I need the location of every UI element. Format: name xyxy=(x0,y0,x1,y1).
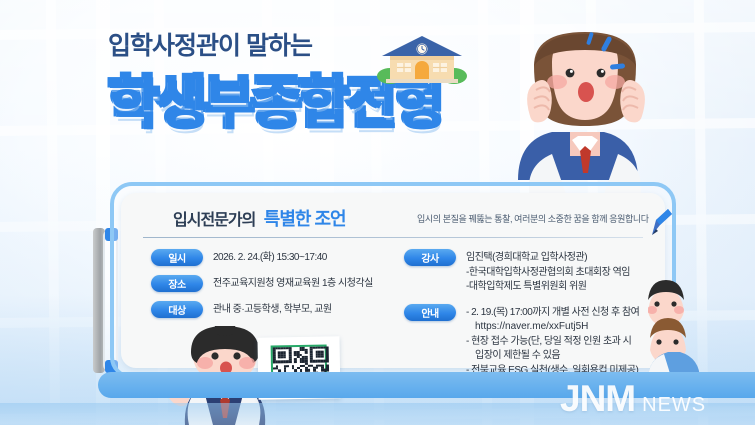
watermark: JNM NEWS xyxy=(560,378,706,420)
info-value: 2026. 2. 24.(화) 15:30~17:40 xyxy=(213,249,327,266)
poster-canvas: 입학사정관이 말하는 학생부종합전형 xyxy=(0,0,755,425)
girl-figure xyxy=(500,20,685,200)
info-row-일시: 일시2026. 2. 24.(화) 15:30~17:40 xyxy=(151,249,409,266)
watermark-suffix: NEWS xyxy=(642,394,706,417)
card-left-column: 일시2026. 2. 24.(화) 15:30~17:40장소전주교육지원청 영… xyxy=(151,249,409,327)
info-value-line: - 현장 접수 가능(단, 당일 적정 인원 초과 시 xyxy=(466,335,639,350)
cluster-figures xyxy=(648,272,750,380)
info-value-line: 2026. 2. 24.(화) 15:30~17:40 xyxy=(213,251,327,266)
info-value-line: -대학입학제도 특별위원회 위원 xyxy=(466,280,630,295)
card-title-plain: 입시전문가의 xyxy=(173,212,255,229)
card-header: 입시전문가의 특별한 조언 입시의 본질을 꿰뚫는 통찰, 여러분의 소중한 꿈… xyxy=(173,205,645,231)
card-title-accent: 특별한 조언 xyxy=(264,209,346,229)
school-building-icon xyxy=(374,30,470,84)
student-group-illustration xyxy=(648,272,750,380)
info-value-line: 전주교육지원청 영재교육원 1층 시청각실 xyxy=(213,277,373,292)
info-value-line: 관내 중·고등학생, 학부모, 교원 xyxy=(213,303,332,318)
card-tagline: 입시의 본질을 꿰뚫는 통찰, 여러분의 소중한 꿈을 함께 응원합니다 xyxy=(417,212,649,225)
info-label-pill: 일시 xyxy=(151,249,203,266)
info-label-pill: 대상 xyxy=(151,301,203,318)
info-value-line: 임진택(경희대학교 입학사정관) xyxy=(466,251,630,266)
watermark-brand: JNM xyxy=(560,378,635,420)
info-label-pill: 안내 xyxy=(404,304,456,321)
info-value: 임진택(경희대학교 입학사정관)-한국대학입학사정관협의회 초대회장 역임-대학… xyxy=(466,249,630,295)
info-label-pill: 강사 xyxy=(404,249,456,266)
info-row-안내: 안내- 2. 19.(목) 17:00까지 개별 사전 신청 후 참여https… xyxy=(404,304,674,379)
info-row-강사: 강사임진택(경희대학교 입학사정관)-한국대학입학사정관협의회 초대회장 역임-… xyxy=(404,249,674,295)
info-value: 전주교육지원청 영재교육원 1층 시청각실 xyxy=(213,275,373,292)
info-row-장소: 장소전주교육지원청 영재교육원 1층 시청각실 xyxy=(151,275,409,292)
info-label-pill: 장소 xyxy=(151,275,203,292)
card-right-column: 강사임진택(경희대학교 입학사정관)-한국대학입학사정관협의회 초대회장 역임-… xyxy=(404,249,674,387)
info-value-line: 입장이 제한될 수 있음 xyxy=(466,349,639,364)
info-value: - 2. 19.(목) 17:00까지 개별 사전 신청 후 참여https:/… xyxy=(466,304,639,379)
info-value-line: - 2. 19.(목) 17:00까지 개별 사전 신청 후 참여 xyxy=(466,306,639,321)
card-divider xyxy=(143,237,643,238)
surprised-student-girl-illustration xyxy=(500,20,685,200)
info-value-line[interactable]: https://naver.me/xxFutj5H xyxy=(466,320,639,335)
info-value-line: -한국대학입학사정관협의회 초대회장 역임 xyxy=(466,266,630,281)
info-value: 관내 중·고등학생, 학부모, 교원 xyxy=(213,301,332,318)
pencil-icon xyxy=(648,207,674,237)
info-row-대상: 대상관내 중·고등학생, 학부모, 교원 xyxy=(151,301,409,318)
